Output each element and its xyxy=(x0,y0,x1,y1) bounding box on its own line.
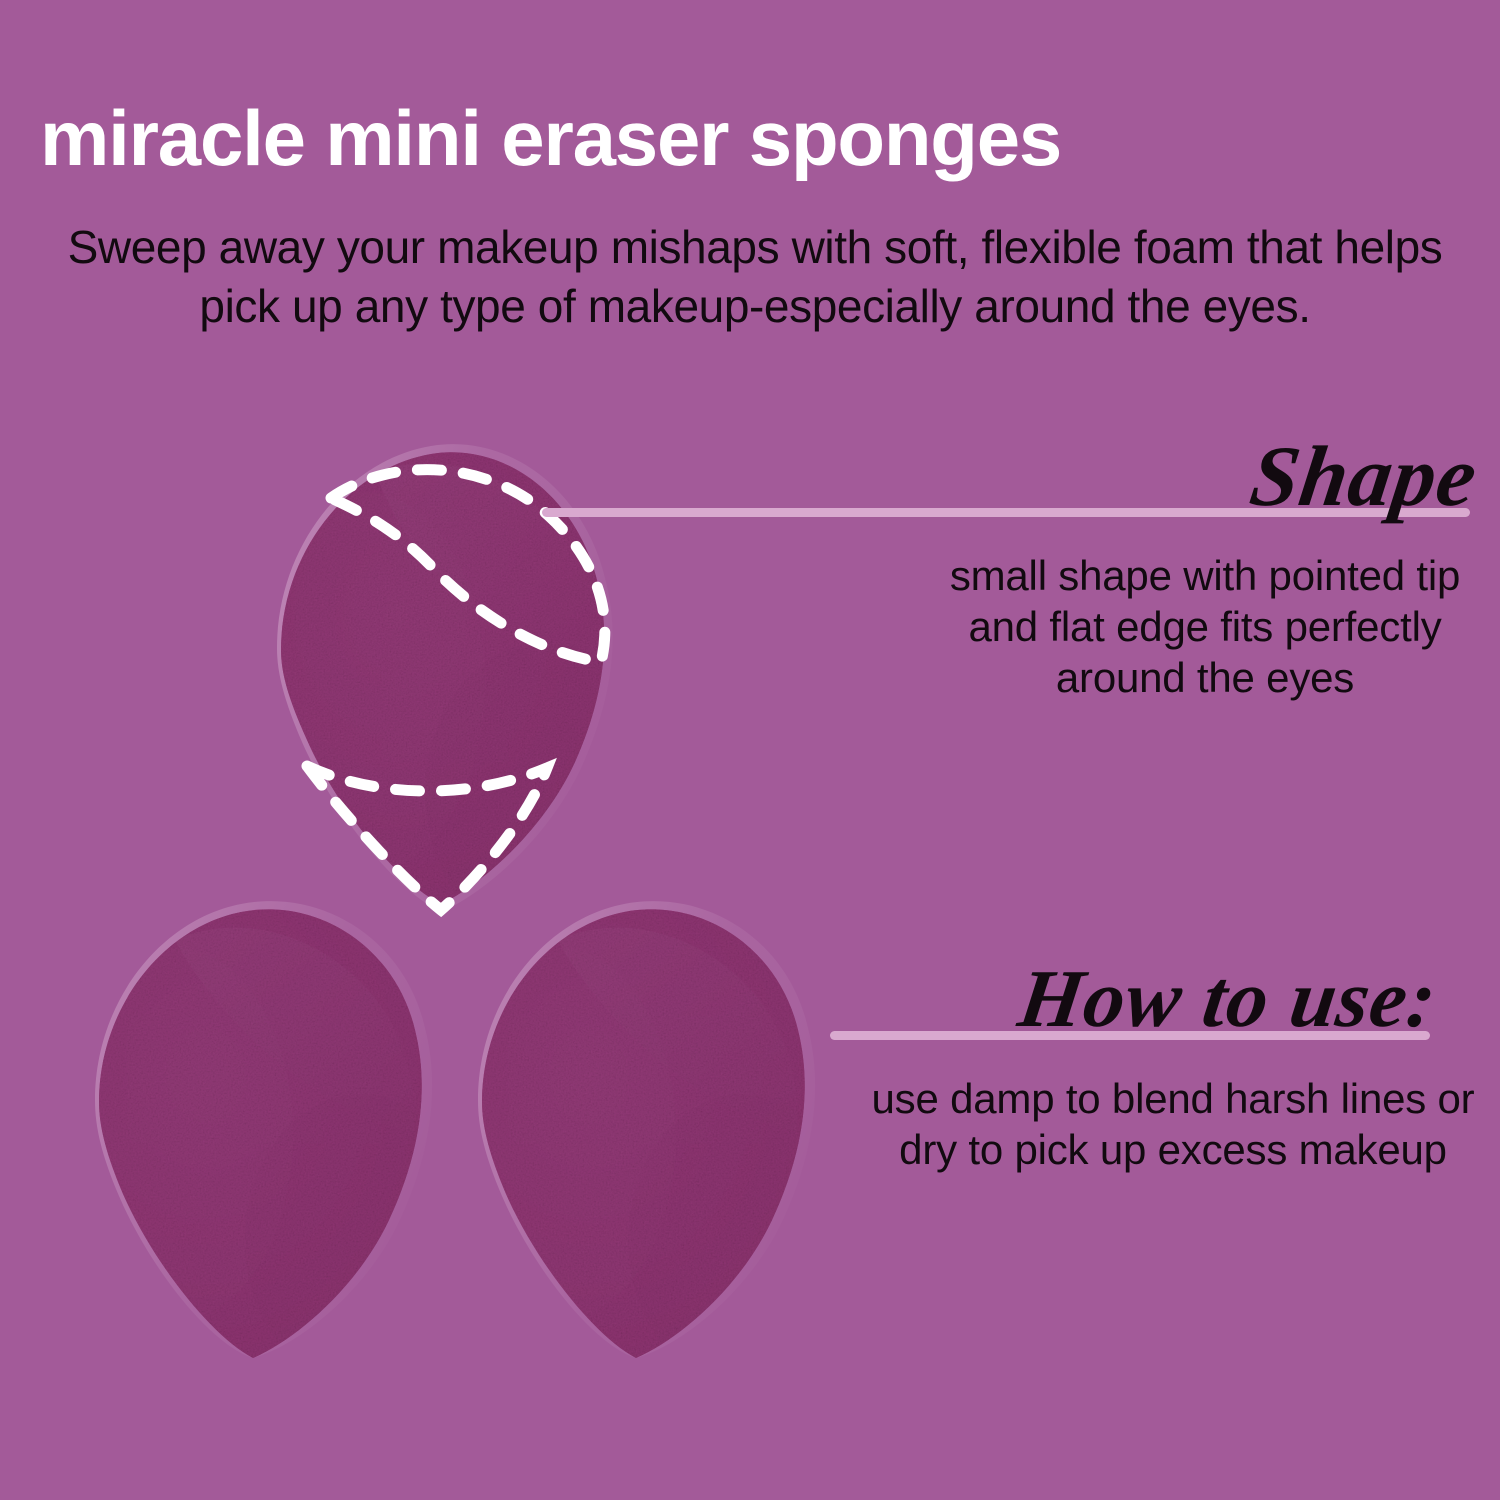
callout-shape: Shape small shape with pointed tip and f… xyxy=(530,430,1476,703)
product-infographic: miracle mini eraser sponges Sweep away y… xyxy=(0,0,1500,1500)
callout-how-to-use: How to use: use damp to blend harsh line… xyxy=(820,955,1476,1175)
bottom-right-sponge-image xyxy=(448,888,840,1358)
bottom-left-sponge-image xyxy=(65,888,457,1358)
page-subtitle: Sweep away your makeup mishaps with soft… xyxy=(40,218,1470,336)
page-title: miracle mini eraser sponges xyxy=(40,96,1470,180)
how-to-use-body-text: use damp to blend harsh lines or dry to … xyxy=(870,1073,1476,1175)
how-to-use-heading: How to use: xyxy=(820,955,1488,1043)
shape-heading: Shape xyxy=(530,430,1489,522)
shape-body-text: small shape with pointed tip and flat ed… xyxy=(940,550,1470,703)
